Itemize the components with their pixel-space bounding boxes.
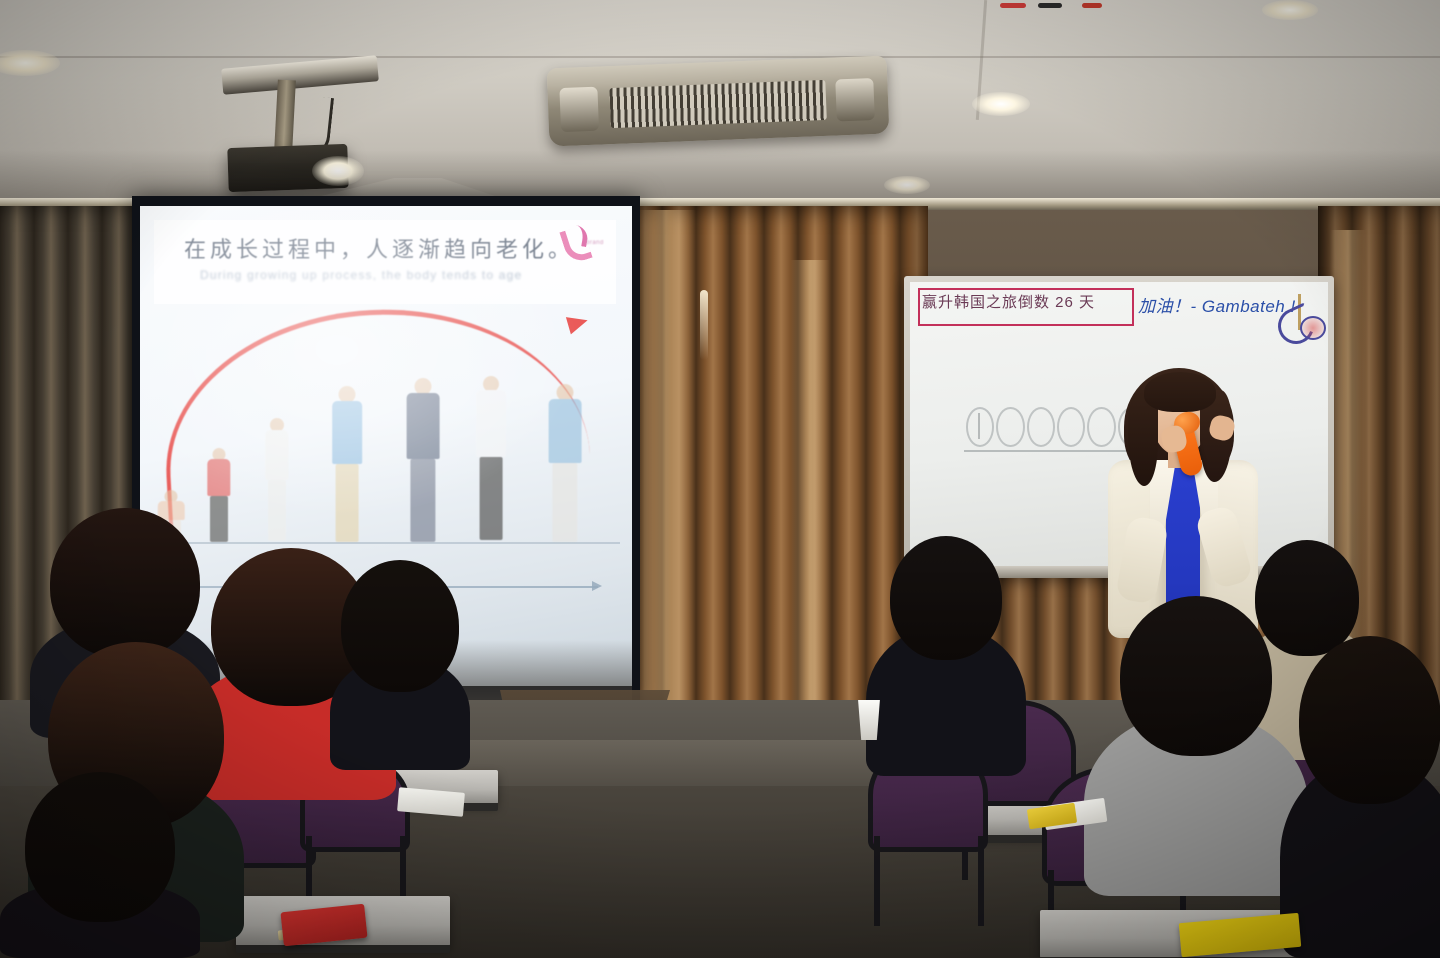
attendee-head bbox=[1120, 596, 1272, 756]
attendee-head bbox=[1299, 636, 1440, 804]
attendee-front-left bbox=[0, 772, 200, 958]
attendee-head bbox=[890, 536, 1002, 660]
attendee-front-right bbox=[1280, 636, 1440, 958]
seminar-room-photo: 在成长过程中，人逐渐趋向老化。 During growing up proces… bbox=[0, 0, 1440, 958]
attendee-head bbox=[341, 560, 459, 692]
audience-layer bbox=[0, 0, 1440, 958]
attendee-head bbox=[25, 772, 175, 922]
attendee-black-top bbox=[330, 560, 470, 770]
attendee-grey-sweater bbox=[1084, 596, 1308, 896]
attendee-head bbox=[50, 508, 200, 658]
attendee-dark-suit bbox=[866, 536, 1026, 776]
